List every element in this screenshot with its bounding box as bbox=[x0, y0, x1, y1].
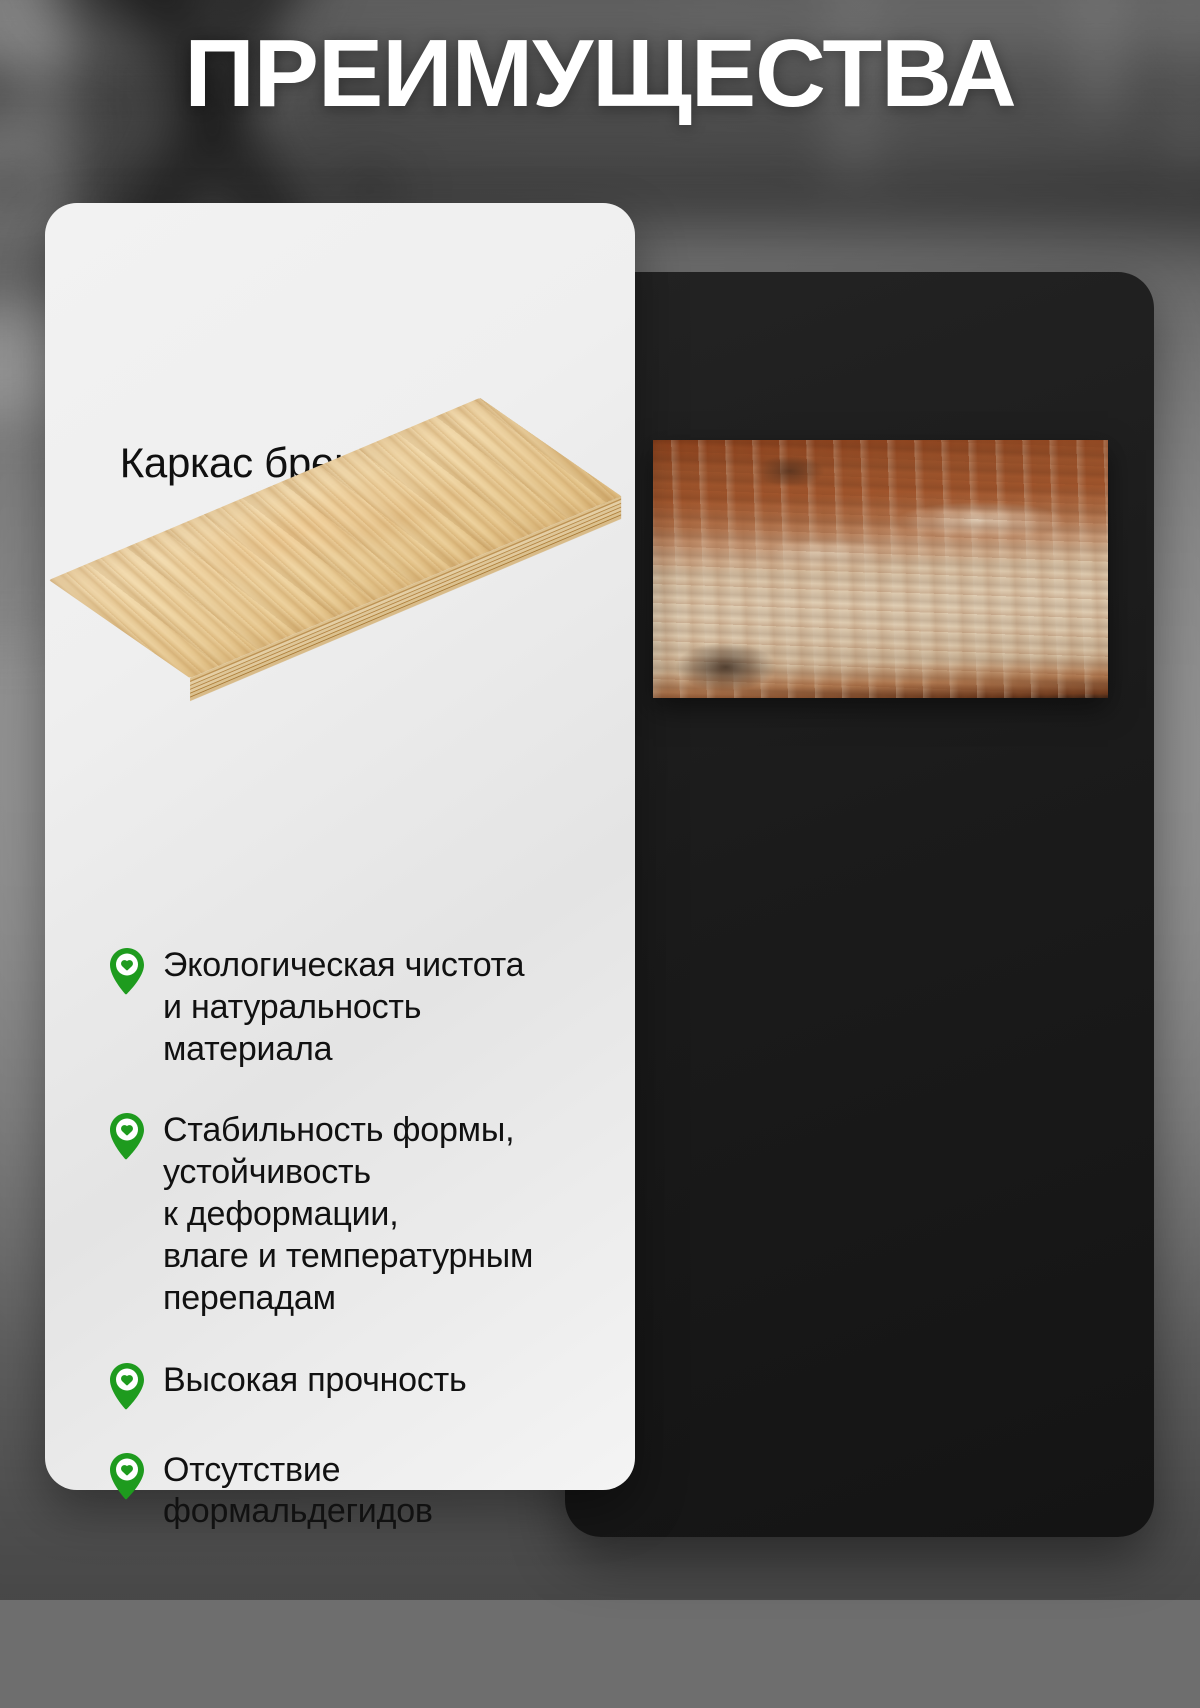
list-item: Экологическая чистота и натуральность ма… bbox=[107, 945, 647, 1070]
page-title: ПРЕИМУЩЕСТВА bbox=[0, 26, 1200, 122]
list-item: Стабильность формы, устойчивость к дефор… bbox=[107, 1110, 647, 1319]
tetchair-card: Каркас бренда Tetchair Экологическая чис… bbox=[45, 203, 635, 1490]
list-item-label: Стабильность формы, устойчивость к дефор… bbox=[163, 1110, 533, 1319]
green-heart-pin-icon bbox=[107, 1362, 147, 1412]
tetchair-feature-list: Экологическая чистота и натуральность ма… bbox=[107, 945, 647, 1573]
green-heart-pin-icon bbox=[107, 1452, 147, 1502]
list-item-label: Отсутствие формальдегидов bbox=[163, 1450, 433, 1534]
list-item-label: Экологическая чистота и натуральность ма… bbox=[163, 945, 524, 1070]
weathered-peeling-wood-image bbox=[653, 440, 1108, 698]
plywood-board-3d bbox=[49, 398, 621, 678]
list-item: Высокая прочность bbox=[107, 1360, 647, 1410]
green-heart-pin-icon bbox=[107, 947, 147, 997]
green-heart-pin-icon bbox=[107, 1112, 147, 1162]
list-item-label: Высокая прочность bbox=[163, 1360, 467, 1402]
plywood-board-image bbox=[0, 393, 680, 713]
list-item: Отсутствие формальдегидов bbox=[107, 1450, 647, 1534]
